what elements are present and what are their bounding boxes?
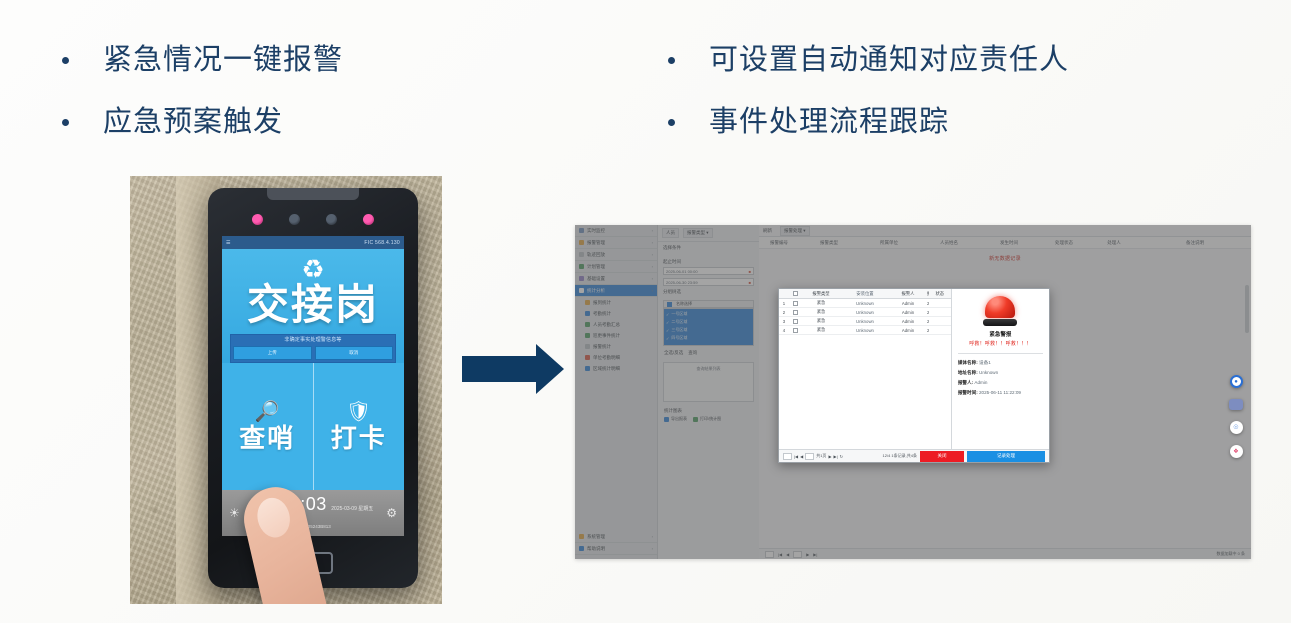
camera-lens-icon [289, 214, 300, 225]
row-checkbox[interactable] [789, 310, 801, 315]
tablet-notch [267, 188, 359, 200]
filter-chip-row: 导出报表 打印/统计图 [658, 416, 759, 422]
sidebar-item-label: 轨迹回放 [587, 252, 605, 258]
sidebar-sub-label: 人员考勤汇总 [593, 322, 620, 328]
filter-section: 选择条件 [658, 242, 759, 256]
filter-date-range: 起止时间 2025-06-01 00:00 ■ 2025-06-30 23:59… [658, 256, 759, 289]
chevron-right-icon: › [652, 276, 653, 281]
alarm-detail-panel: 紧急警报 呼救！呼救！！呼救！！！ 媒体名称: 设备1 地址名称: Unknow… [952, 289, 1049, 449]
pager-next-icon[interactable]: ▶ [828, 454, 831, 459]
list-item[interactable]: ✓二号区域 [666, 319, 751, 325]
device-hero: ♻ 交接岗 非确定事实处理警信息等 上传 取消 [222, 249, 404, 363]
filter-tab-alarm-type[interactable]: 报警类型 ▾ [683, 228, 713, 238]
field-label: 地址名称: [958, 370, 978, 375]
alarm-page-label: 共1页 [816, 453, 826, 459]
bullet-text: 可设置自动通知对应责任人 [709, 40, 1069, 80]
plan-icon [579, 264, 584, 269]
brightness-icon[interactable]: ☀ [229, 506, 240, 520]
col-location: 安装位置 [841, 291, 889, 297]
col-header: 所属单位 [859, 240, 919, 246]
filter-date-label: 起止时间 [663, 259, 754, 265]
row-location: Unknown [841, 301, 889, 306]
alarm-table-header: 报警类型 安装位置 报警人 报警时间 状态 [779, 289, 951, 299]
sidebar-item-basic[interactable]: 基础设置 › [575, 273, 657, 285]
sidebar-item-label: 计划管理 [587, 264, 605, 270]
table-row[interactable]: 4 紧急 Unknown Admin 2025-06-09 20:16:33 [779, 326, 951, 335]
filter-result-title: 查询结果列表 [697, 366, 721, 372]
row-reporter: Admin [889, 328, 927, 333]
pager-first-icon[interactable]: |◀ [794, 454, 798, 459]
export-label: 导出报表 [671, 416, 687, 422]
row-index: 2 [779, 310, 789, 315]
bullet-dot-icon [668, 57, 675, 64]
pagination-controls: |◀ ◀ 共1页 ▶ ▶| ↻ [783, 453, 843, 460]
app-filter-panel: 人员 报警类型 ▾ 选择条件 起止时间 2025-06-01 00:00 ■ 2… [657, 225, 759, 559]
list-item[interactable]: ✓三号区域 [666, 327, 751, 333]
filter-list-title: 分组树选 [658, 289, 759, 297]
slide-canvas: 紧急情况一键报警 应急预案触发 可设置自动通知对应责任人 事件处理流程跟踪 [0, 0, 1291, 623]
sidebar-item-realtime[interactable]: 实时监控 › [575, 225, 657, 237]
list-item-label: 三号区域 [671, 327, 687, 333]
row-location: Unknown [841, 319, 889, 324]
alarm-field-media: 媒体名称: 设备1 [958, 359, 1043, 367]
row-checkbox[interactable] [789, 328, 801, 333]
report-icon [585, 300, 590, 305]
col-header: 报警编号 [759, 240, 799, 246]
row-location: Unknown [841, 328, 889, 333]
table-row[interactable]: 3 紧急 Unknown Admin 2025-06-10 04:50:06 [779, 317, 951, 326]
sidebar-sub-label: 报到统计 [593, 300, 611, 306]
filter-section-title: 选择条件 [663, 245, 754, 251]
checkbox-icon[interactable] [793, 319, 798, 324]
chevron-right-icon: › [652, 252, 653, 257]
device-notice-box: 非确定事实处理警信息等 上传 取消 [230, 334, 396, 363]
pager-first[interactable]: |◀ [778, 552, 782, 557]
shield-check-icon: 🛡 [346, 401, 371, 423]
query-button[interactable]: 查询 [688, 350, 697, 356]
sidebar-item-plan[interactable]: 计划管理 › [575, 261, 657, 273]
main-empty-alert: 新无数据记录 [759, 249, 1251, 262]
chevron-right-icon: › [652, 546, 653, 551]
pager-prev[interactable]: ◀ [786, 552, 789, 557]
alarm-dialog[interactable]: 报警类型 安装位置 报警人 报警时间 状态 1 紧急 Unknown Admin… [778, 288, 1050, 463]
chevron-right-icon: › [652, 228, 653, 233]
row-checkbox[interactable] [789, 319, 801, 324]
row-index: 1 [779, 301, 789, 306]
device-screen[interactable]: ☰ FIC 568.4.130 ♻ 交接岗 非确定事实处理警信息等 上传 取消 [222, 236, 404, 536]
filter-tabs: 人员 报警类型 ▾ [658, 225, 759, 242]
record-dot-icon[interactable]: ● [1230, 375, 1243, 388]
alarm-field-time: 报警时间: 2025-06-11 11:22:09 [958, 389, 1043, 397]
system-icon [579, 534, 584, 539]
col-checkbox [789, 291, 801, 296]
sidebar-sub-staff-summary[interactable]: 人员考勤汇总 [575, 319, 657, 330]
ir-led-icon [363, 214, 374, 225]
row-alarm-type: 紧急 [801, 309, 841, 315]
list-item[interactable]: ✓四号区域 [666, 335, 751, 341]
checkbox-icon[interactable] [793, 328, 798, 333]
col-alarm-type: 报警类型 [801, 291, 841, 297]
row-time: 2025-06-09 20:16:33 [927, 328, 929, 333]
field-label: 报警人: [958, 380, 973, 385]
alarm-icon [579, 240, 584, 245]
help-icon [579, 546, 584, 551]
alarm-flash-text: 呼救！呼救！！呼救！！！ [958, 340, 1043, 347]
divider [958, 353, 1043, 354]
device-photo: ☰ FIC 568.4.130 ♻ 交接岗 非确定事实处理警信息等 上传 取消 [130, 176, 442, 604]
alarm-dialog-footer: |◀ ◀ 共1页 ▶ ▶| ↻ 12/4 1条记录,共4条 关闭 记录处理 [779, 449, 1049, 462]
print-label: 打印/统计图 [700, 416, 721, 422]
row-reporter: Admin [889, 310, 927, 315]
tablet-device: ☰ FIC 568.4.130 ♻ 交接岗 非确定事实处理警信息等 上传 取消 [208, 188, 418, 588]
sidebar-sub-attendance[interactable]: 考勤统计 [575, 308, 657, 319]
settings-wheel-icon[interactable]: ❖ [1230, 445, 1243, 458]
summary-icon [585, 322, 590, 327]
pager-prev-icon[interactable]: ◀ [800, 454, 803, 459]
col-header: 报警类型 [799, 240, 859, 246]
device-action-row: 🔎 查哨 🛡 打卡 [222, 363, 404, 490]
page-number-input[interactable] [805, 453, 814, 460]
patrol-icon [585, 333, 590, 338]
filter-date-end-value: 2025-06-30 23:59 [666, 280, 698, 285]
filter-list-box[interactable]: ✓一号区域 ✓二号区域 ✓三号区域 ✓四号区域 [663, 308, 754, 346]
checkbox-icon[interactable] [793, 301, 798, 306]
checkbox-icon[interactable] [793, 291, 798, 296]
sidebar-item-label: 报警管理 [587, 240, 605, 246]
ir-led-icon [252, 214, 263, 225]
refresh-button[interactable]: 刷新 [763, 228, 772, 234]
area-icon [585, 366, 590, 371]
row-alarm-type: 紧急 [801, 327, 841, 333]
device-hero-title: 交接岗 [222, 283, 404, 329]
select-all-button[interactable]: 全选/反选 [664, 350, 683, 356]
beacon-base [983, 319, 1017, 326]
notice-confirm-button[interactable]: 上传 [233, 346, 312, 360]
alarm-stat-icon [585, 344, 590, 349]
playback-icon [579, 252, 584, 257]
filter-result-panel: 查询结果列表 [663, 362, 754, 402]
filter-chart-title: 统计图表 [658, 404, 759, 416]
device-action-label: 查哨 [239, 425, 295, 453]
row-alarm-type: 紧急 [801, 318, 841, 324]
device-action-checkin[interactable]: 🛡 打卡 [313, 363, 405, 490]
bullet-item: 应急预案触发 [62, 102, 622, 142]
row-alarm-type: 紧急 [801, 300, 841, 306]
device-notice-buttons: 上传 取消 [233, 346, 393, 360]
app-sidebar: 实时监控 › 报警管理 › 轨迹回放 › 计划管理 › 基础设置 › [575, 225, 657, 559]
device-status-bar: ☰ FIC 568.4.130 [222, 236, 404, 249]
sidebar-sub-unit-detail[interactable]: 单位考勤明细 [575, 352, 657, 363]
export-report-button[interactable]: 导出报表 [664, 416, 687, 422]
floating-tool-icons: ● ☉ ❖ [1229, 375, 1243, 458]
notice-cancel-button[interactable]: 取消 [315, 346, 394, 360]
device-action-label: 打卡 [331, 425, 387, 453]
filter-list-header: 名称选择 [663, 300, 754, 308]
export-icon [664, 417, 669, 422]
list-item[interactable]: ✓一号区域 [666, 311, 751, 317]
sidebar-sub-label: 考勤统计 [593, 311, 611, 317]
sensor-row [208, 214, 418, 225]
row-time: 2025-06-10 04:50:06 [927, 319, 929, 324]
print-chart-button[interactable]: 打印/统计图 [693, 416, 721, 422]
checkbox-icon[interactable]: ✓ [666, 312, 669, 317]
chevron-right-icon: › [652, 240, 653, 245]
bullet-item: 事件处理流程跟踪 [668, 102, 1228, 142]
beacon-dome [985, 296, 1015, 318]
fingernail [254, 495, 294, 541]
sidebar-sub-area-detail[interactable]: 区域统计明细 [575, 363, 657, 374]
bullet-dot-icon [62, 119, 69, 126]
sidebar-sub-label: 报警统计 [593, 344, 611, 350]
row-reporter: Admin [889, 319, 927, 324]
calendar-icon[interactable]: ■ [749, 280, 751, 285]
sidebar-item-help[interactable]: 帮助说明 › [575, 543, 657, 555]
sidebar-item-label: 实时监控 [587, 228, 605, 234]
filter-date-end-input[interactable]: 2025-06-30 23:59 ■ [663, 278, 754, 286]
gear-icon[interactable]: ⚙ [386, 506, 397, 520]
col-status: 状态 [929, 291, 951, 297]
monitoring-app-screenshot: 实时监控 › 报警管理 › 轨迹回放 › 计划管理 › 基础设置 › [575, 225, 1251, 559]
arrow-head [536, 344, 564, 394]
alarm-table: 报警类型 安装位置 报警人 报警时间 状态 1 紧急 Unknown Admin… [779, 289, 952, 449]
alarm-total-text: 12/4 1条记录,共4条 [883, 453, 917, 459]
sidebar-sub-alarm-stats[interactable]: 报警统计 [575, 341, 657, 352]
device-date: 2025-03-09 星期五 [331, 506, 373, 512]
field-value: Admin [974, 380, 987, 385]
monitor-icon [579, 228, 584, 233]
sidebar-item-label: 统计分析 [587, 288, 605, 294]
col-header: 处理状态 [1039, 240, 1089, 246]
list-item-label: 四号区域 [671, 335, 687, 341]
sidebar-item-alarm[interactable]: 报警管理 › [575, 237, 657, 249]
alarm-field-location: 地址名称: Unknown [958, 369, 1043, 377]
checkbox-icon[interactable]: ✓ [666, 336, 669, 341]
unit-icon [585, 355, 590, 360]
bullet-dot-icon [668, 119, 675, 126]
field-label: 报警时间: [958, 390, 978, 395]
filter-tab-person[interactable]: 人员 [662, 228, 679, 238]
sidebar-item-label: 帮助说明 [587, 546, 605, 552]
sidebar-sub-patrol-events[interactable]: 巡更事件统计 [575, 330, 657, 341]
select-all-checkbox[interactable] [667, 302, 672, 307]
row-time: 2025-06-10 05:44:52 [927, 310, 929, 315]
device-action-patrol[interactable]: 🔎 查哨 [222, 363, 313, 490]
row-location: Unknown [841, 310, 889, 315]
sidebar-bottom-group: 系统管理 › 帮助说明 › [575, 531, 657, 555]
sidebar-item-system[interactable]: 系统管理 › [575, 531, 657, 543]
pager-last-icon[interactable]: ▶| [834, 454, 838, 459]
field-value: 2025-06-11 11:22:09 [979, 390, 1021, 395]
alarm-close-button[interactable]: 关闭 [920, 451, 964, 462]
row-index: 3 [779, 319, 789, 324]
alarm-title: 紧急警报 [958, 330, 1043, 338]
chevron-right-icon: › [652, 534, 653, 539]
main-footer-bar: |◀ ◀ ▶ ▶| 数据加载中 0 条 [759, 548, 1251, 559]
screen-capture-icon[interactable] [1229, 399, 1243, 410]
table-row[interactable]: 1 紧急 Unknown Admin 2025-06-11 11:22:09 [779, 299, 951, 308]
refresh-icon[interactable]: ↻ [840, 454, 843, 459]
field-value: Unknown [979, 370, 998, 375]
alarm-process-dropdown[interactable]: 报警处理 ▾ [780, 226, 810, 236]
col-header: 发生时间 [979, 240, 1039, 246]
filter-date-start-input[interactable]: 2025-06-01 00:00 ■ [663, 267, 754, 275]
alarm-process-button[interactable]: 记录处理 [967, 451, 1045, 462]
col-reporter: 报警人 [889, 291, 927, 297]
wifi-icon: ☰ [226, 240, 231, 246]
main-table-header: 报警编号 报警类型 所属单位 人员姓名 发生时间 处理状态 处理人 备注说明 [759, 237, 1251, 249]
list-item-label: 一号区域 [671, 311, 687, 317]
sidebar-item-label: 系统管理 [587, 534, 605, 540]
main-toolbar: 刷新 报警处理 ▾ [759, 225, 1251, 237]
red-alarm-beacon-icon [983, 296, 1017, 326]
bullet-text: 应急预案触发 [103, 102, 283, 142]
field-label: 媒体名称: [958, 360, 978, 365]
alarm-dialog-body: 报警类型 安装位置 报警人 报警时间 状态 1 紧急 Unknown Admin… [779, 289, 1049, 449]
bullet-dot-icon [62, 57, 69, 64]
row-index: 4 [779, 328, 789, 333]
bullet-list-right: 可设置自动通知对应责任人 事件处理流程跟踪 [668, 40, 1228, 164]
sidebar-item-statistics[interactable]: 统计分析 › [575, 285, 657, 297]
bullet-list-left: 紧急情况一键报警 应急预案触发 [62, 40, 622, 164]
bullet-item: 紧急情况一键报警 [62, 40, 622, 80]
col-header: 人员姓名 [919, 240, 979, 246]
pager-next[interactable]: ▶ [806, 552, 809, 557]
recycle-people-icon: ♻ [222, 255, 404, 283]
light-sensor-icon [326, 214, 337, 225]
sidebar-sub-label: 巡更事件统计 [593, 333, 620, 339]
row-checkbox[interactable] [789, 301, 801, 306]
calendar-icon[interactable]: ■ [749, 269, 751, 274]
sidebar-sub-label: 区域统计明细 [593, 366, 620, 372]
chart-icon [579, 288, 584, 293]
bullet-text: 事件处理流程跟踪 [709, 102, 949, 142]
chevron-down-icon: › [652, 288, 653, 293]
device-status-text: FIC 568.4.130 [364, 240, 400, 246]
filter-buttons: 全选/反选 查询 [658, 346, 759, 360]
page-number-input[interactable] [793, 551, 802, 558]
sidebar-sub-label: 单位考勤明细 [593, 355, 620, 361]
row-time: 2025-06-11 11:22:09 [927, 301, 929, 306]
bullet-text: 紧急情况一键报警 [103, 40, 343, 80]
sidebar-item-playback[interactable]: 轨迹回放 › [575, 249, 657, 261]
settings-icon [579, 276, 584, 281]
filter-date-start-value: 2025-06-01 00:00 [666, 269, 698, 274]
row-reporter: Admin [889, 301, 927, 306]
search-person-icon: 🔎 [255, 401, 280, 423]
col-header: 处理人 [1089, 240, 1139, 246]
alarm-field-reporter: 报警人: Admin [958, 379, 1043, 387]
sidebar-sub-report[interactable]: 报到统计 [575, 297, 657, 308]
field-value: 设备1 [979, 360, 991, 365]
checkbox-icon[interactable] [793, 310, 798, 315]
main-footer-status: 数据加载中 0 条 [1217, 551, 1245, 557]
checkbox-icon[interactable]: ✓ [666, 320, 669, 325]
filter-list-header-label: 名称选择 [676, 301, 692, 307]
snapshot-icon[interactable]: ☉ [1230, 421, 1243, 434]
col-header: 备注说明 [1139, 240, 1251, 246]
beacon-wrap [958, 296, 1043, 326]
pager-last[interactable]: ▶| [813, 552, 817, 557]
attendance-icon [585, 311, 590, 316]
table-row[interactable]: 2 紧急 Unknown Admin 2025-06-10 05:44:52 [779, 308, 951, 317]
arrow-shaft [462, 356, 538, 382]
sidebar-item-label: 基础设置 [587, 276, 605, 282]
checkbox-icon[interactable]: ✓ [666, 328, 669, 333]
list-item-label: 二号区域 [671, 319, 687, 325]
print-icon [693, 417, 698, 422]
page-size-select[interactable] [783, 453, 792, 460]
chevron-right-icon: › [652, 264, 653, 269]
device-notice-text: 非确定事实处理警信息等 [233, 337, 393, 344]
page-size-select[interactable] [765, 551, 774, 558]
main-scrollbar[interactable] [1245, 285, 1249, 333]
bullet-item: 可设置自动通知对应责任人 [668, 40, 1228, 80]
